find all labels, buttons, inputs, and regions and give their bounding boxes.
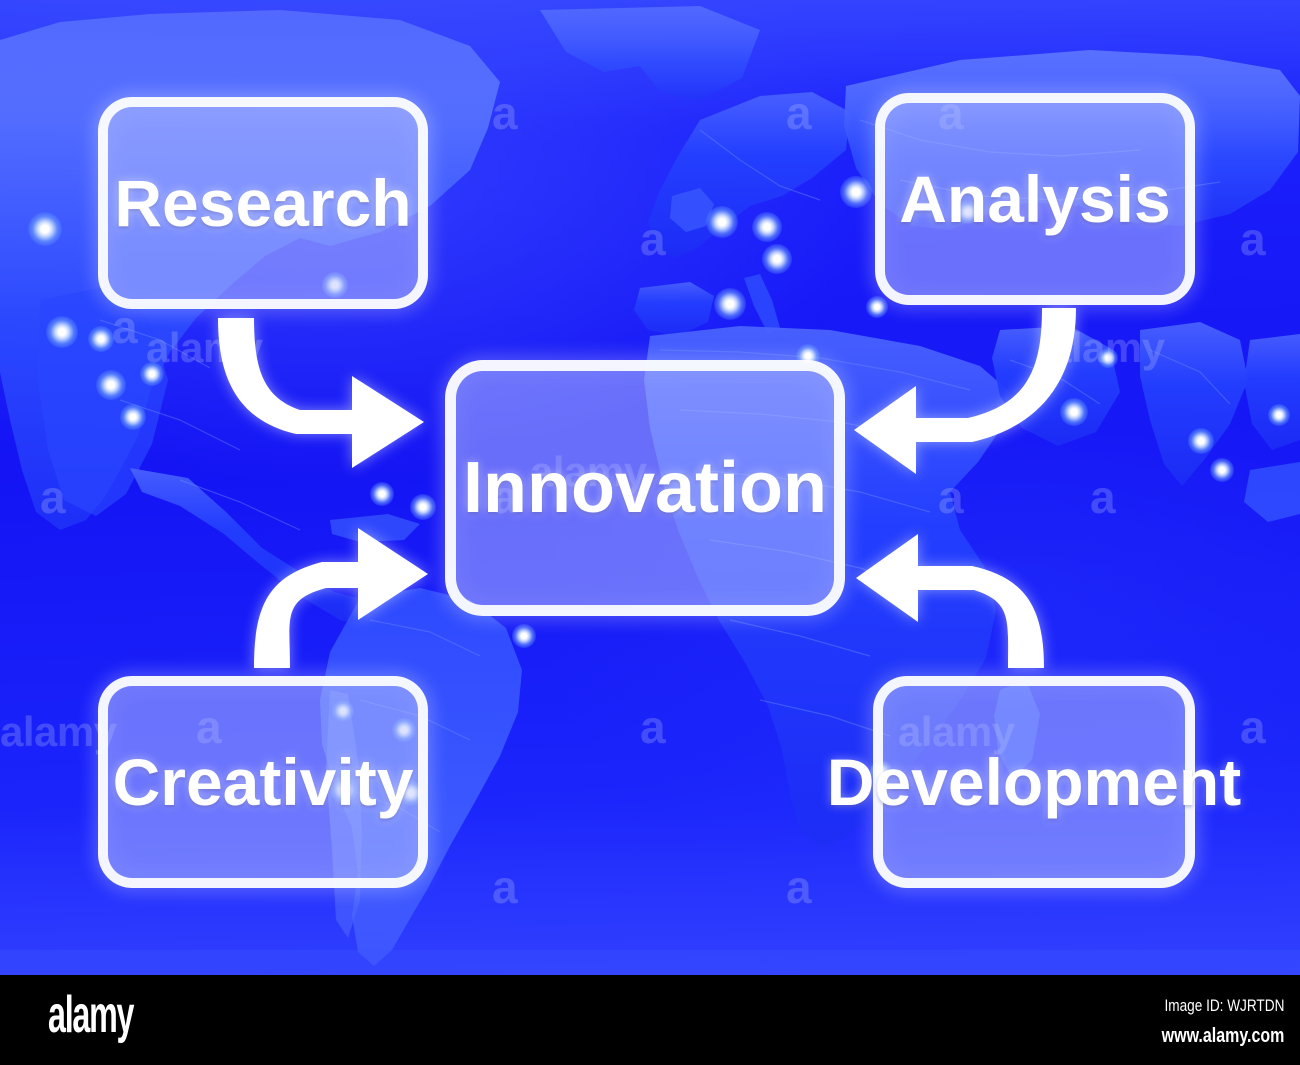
node-creativity[interactable]: Creativity xyxy=(98,676,428,888)
image-id-text: Image ID: WJRTDN xyxy=(1161,995,1284,1016)
node-innovation[interactable]: Innovation xyxy=(445,360,845,616)
land-italy xyxy=(744,274,780,334)
land-indonesia xyxy=(1244,462,1300,522)
alamy-footer-bar: alamy Image ID: WJRTDN www.alamy.com xyxy=(0,975,1300,1065)
node-development[interactable]: Development xyxy=(873,676,1195,888)
land-southeast-asia xyxy=(1244,334,1300,450)
land-india xyxy=(1140,322,1248,486)
land-caribbean xyxy=(330,514,420,542)
land-central-america xyxy=(130,468,386,628)
land-arabia xyxy=(992,326,1120,446)
land-europe xyxy=(648,92,850,258)
node-analysis[interactable]: Analysis xyxy=(875,93,1195,305)
node-analysis-label: Analysis xyxy=(899,166,1170,232)
diagram-canvas: a a a a a a a a a a a a a a a alamy alam… xyxy=(0,0,1300,975)
alamy-logo: alamy xyxy=(48,989,133,1041)
node-creativity-label: Creativity xyxy=(113,749,414,815)
land-iberia xyxy=(634,282,714,336)
node-innovation-label: Innovation xyxy=(463,452,827,524)
node-research-label: Research xyxy=(114,170,411,236)
land-antarctic-hint xyxy=(0,950,1300,975)
node-development-label: Development xyxy=(827,749,1241,815)
node-research[interactable]: Research xyxy=(98,97,428,309)
land-greenland xyxy=(540,6,760,100)
footer-right-block: Image ID: WJRTDN www.alamy.com xyxy=(1131,995,1284,1049)
alamy-url-text: www.alamy.com xyxy=(1161,1024,1284,1049)
